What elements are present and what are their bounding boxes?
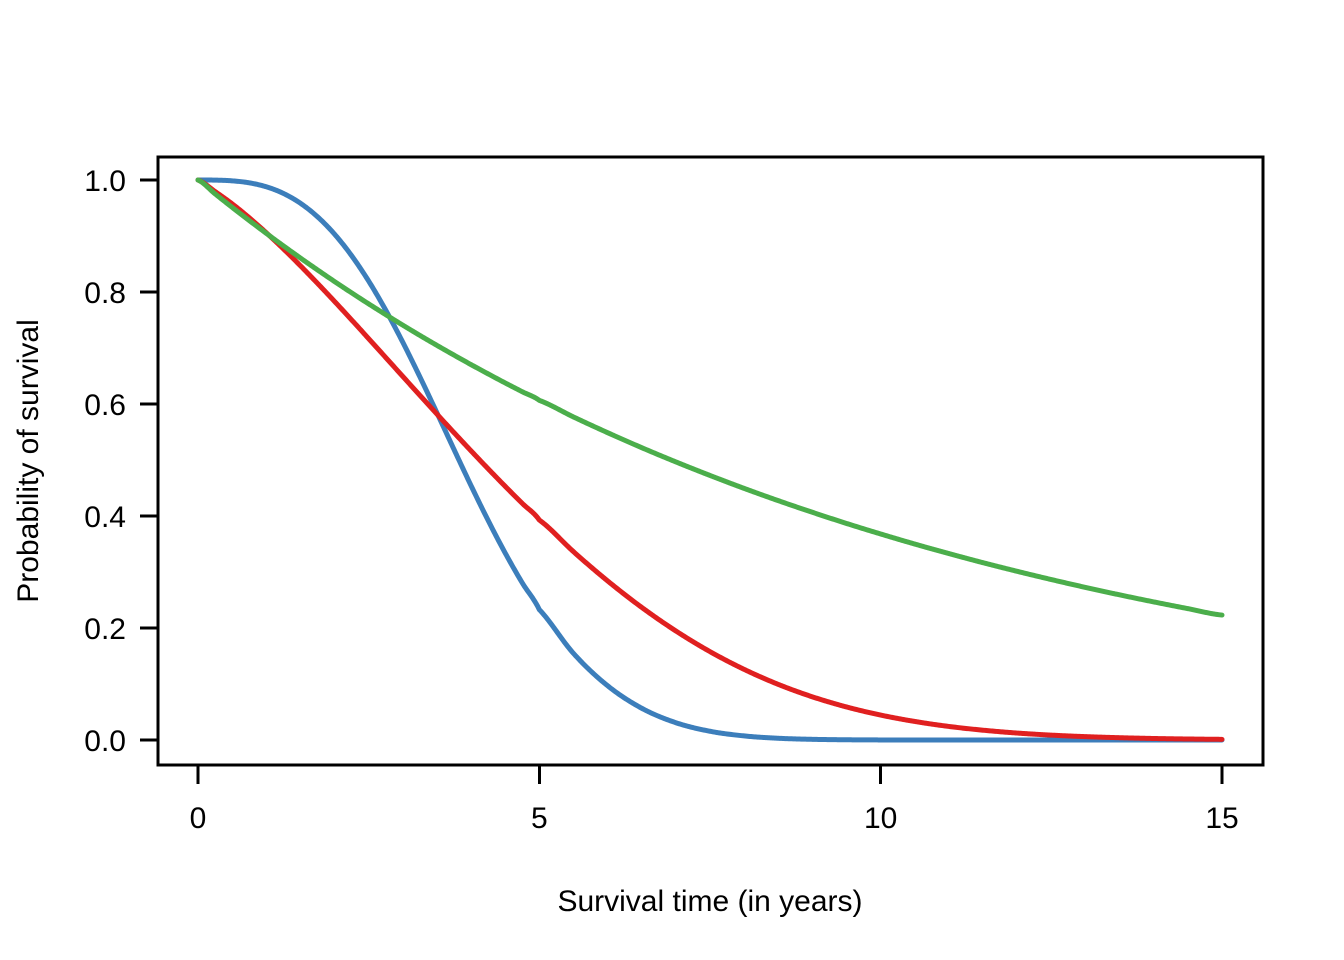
y-axis-title: Probability of survival xyxy=(12,319,45,602)
x-tick-label: 10 xyxy=(864,802,897,835)
survival-curves-plot: 0.00.20.40.60.81.0 051015 Survival time … xyxy=(0,0,1344,960)
y-tick-label: 0.8 xyxy=(84,277,126,310)
y-tick-label: 0.2 xyxy=(84,613,126,646)
x-axis: 051015 xyxy=(190,765,1239,835)
blue-curve xyxy=(198,180,1222,740)
x-axis-title: Survival time (in years) xyxy=(557,885,862,918)
x-tick-label: 0 xyxy=(190,802,207,835)
y-tick-marks xyxy=(140,180,158,740)
x-tick-labels: 051015 xyxy=(190,802,1239,835)
y-tick-label: 0.0 xyxy=(84,725,126,758)
data-series-group xyxy=(198,180,1222,740)
y-tick-labels: 0.00.20.40.60.81.0 xyxy=(84,165,126,758)
green-curve xyxy=(198,180,1222,615)
red-curve xyxy=(198,180,1222,739)
y-tick-label: 0.4 xyxy=(84,501,126,534)
y-tick-label: 0.6 xyxy=(84,389,126,422)
y-tick-label: 1.0 xyxy=(84,165,126,198)
plot-frame xyxy=(158,157,1263,765)
x-tick-marks xyxy=(198,765,1222,784)
x-tick-label: 15 xyxy=(1205,802,1238,835)
x-tick-label: 5 xyxy=(531,802,548,835)
y-axis: 0.00.20.40.60.81.0 xyxy=(84,165,158,758)
chart-figure: 0.00.20.40.60.81.0 051015 Survival time … xyxy=(0,0,1344,960)
